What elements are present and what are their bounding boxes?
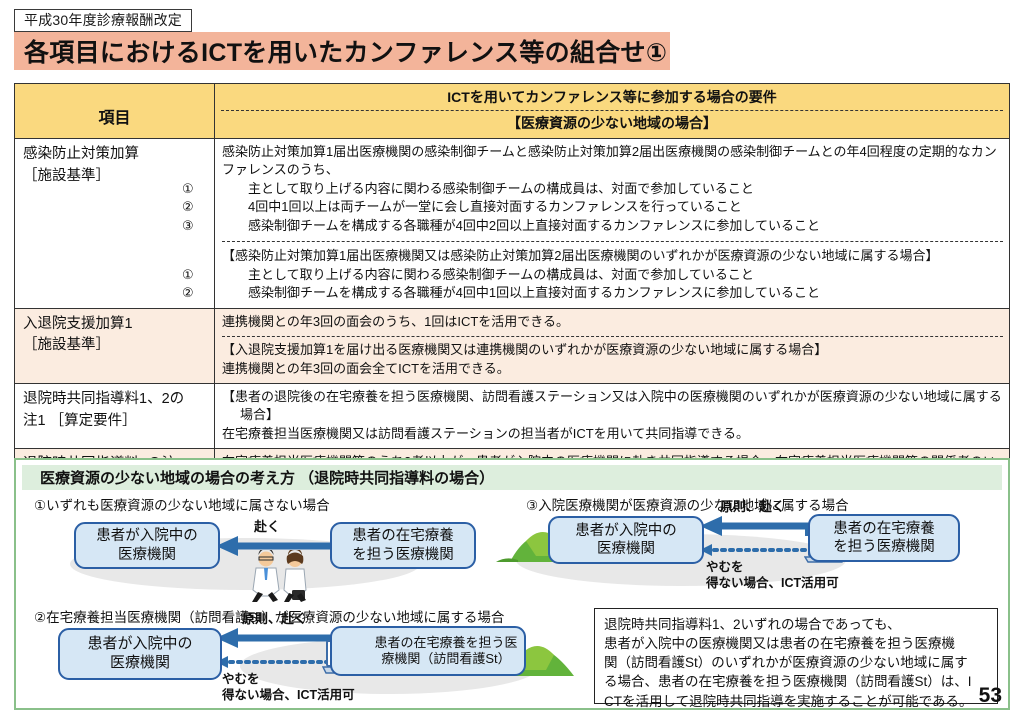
requirements-header-line2: 【医療資源の少ない地域の場合】 [221,113,1003,134]
ict-note-line2: 得ない場合、ICT活用可 [706,576,839,590]
node-inpatient-facility: 患者が入院中の 医療機関 [548,516,704,564]
ict-note-line1: やむを [706,560,744,574]
node-line1: 患者の在宅療養を担う医 [374,635,517,650]
body-lead-alt: 【入退院支援加算1を届け出る医療機関又は連携機関のいずれかが医療資源の少ない地域… [222,341,1003,359]
item-line2: 注1 ［算定要件］ [23,411,208,433]
arrow-ict-dotted [216,654,338,670]
row-body-admission-support: 連携機関との年3回の面会のうち、1回はICTを活用できる。 【入退院支援加算1を… [215,308,1010,383]
body-bullet: ②4回中1回以上は両チームが一堂に会し直接対面するカンファレンスを行っていること [222,198,1003,216]
slide-page: 平成30年度診療報酬改定 各項目におけるICTを用いたカンファレンス等の組合せ①… [0,0,1024,724]
row-dashed-divider [222,336,1003,337]
page-number: 53 [979,684,1002,708]
node-home-care-facility: 患者の在宅療養 を担う医療機関 [808,514,960,562]
table-row: 感染防止対策加算 ［施設基準］ 感染防止対策加算1届出医療機関の感染制御チームと… [15,139,1010,309]
body-lead: 連携機関との年3回の面会のうち、1回はICTを活用できる。 [222,313,1003,331]
item-line2: ［施設基準］ [23,335,208,357]
bullet-number: ② [222,284,248,302]
row-item-discharge-joint-guidance-1-2: 退院時共同指導料1、2の 注1 ［算定要件］ [15,383,215,448]
bullet-number: ② [222,198,248,216]
diagram-case2: ②在宅療養担当医療機関（訪問看護St）が医療資源の少ない地域に属する場合 患者が… [30,606,578,711]
body-bullet: ③感染制御チームを構成する各職種が4回中2回以上直接対面するカンファレンスに参加… [222,217,1003,235]
doctors-walking-icon [248,550,318,602]
bullet-number: ① [222,180,248,198]
node-line2: 医療機関 [597,541,655,557]
diagram-case1: ①いずれも医療資源の少ない地域に属さない場合 患者が入院中の 医療機関 患者の在… [30,494,500,599]
node-line2: 医療機関 [118,547,176,563]
node-inpatient-facility: 患者が入院中の 医療機関 [58,628,222,680]
node-line2: を担う医療機関 [352,547,454,563]
body-lead: 【患者の退院後の在宅療養を担う医療機関、訪問看護ステーション又は入院中の医療機関… [222,388,1003,425]
bullet-text: 主として取り上げる内容に関わる感染制御チームの構成員は、対面で参加していること [248,181,754,196]
body-bullet: ①主として取り上げる内容に関わる感染制御チームの構成員は、対面で参加していること [222,180,1003,198]
note-line2: 患者が入院中の医療機関又は患者の在宅療養を担う医療機 [604,634,989,653]
bullet-number: ① [222,266,248,284]
arrow-label-visit: 原則、赴く [242,608,307,627]
row-body-infection-prevention: 感染防止対策加算1届出医療機関の感染制御チームと感染防止対策加算2届出医療機関の… [215,139,1010,309]
diagram-case1-title: ①いずれも医療資源の少ない地域に属さない場合 [34,494,330,514]
table-header-row: 項目 ICTを用いてカンファレンス等に参加する場合の要件 【医療資源の少ない地域… [15,84,1010,139]
body-lead-alt: 【感染防止対策加算1届出医療機関又は感染防止対策加算2届出医療機関のいずれかが医… [222,247,1003,265]
bullet-text: 4回中1回以上は両チームが一堂に会し直接対面するカンファレンスを行っていること [248,199,742,214]
body-extra: 在宅療養担当医療機関又は訪問看護ステーションの担当者がICTを用いて共同指導でき… [222,425,1003,443]
column-header-requirements: ICTを用いてカンファレンス等に参加する場合の要件 【医療資源の少ない地域の場合… [215,84,1010,139]
ict-note-case3: やむを 得ない場合、ICT活用可 [706,560,839,591]
fiscal-year-tag: 平成30年度診療報酬改定 [14,9,192,32]
body-bullet: ①主として取り上げる内容に関わる感染制御チームの構成員は、対面で参加していること [222,266,1003,284]
diagram-case3: ③入院医療機関が医療資源の少ない地域に属する場合 患者が入院中の 医療機関 患者… [508,494,1006,609]
note-line4: る場合、患者の在宅療養を担う医療機関（訪問看護St）は、I [604,672,989,691]
ict-note-line2: 得ない場合、ICT活用可 [222,688,355,702]
requirements-table: 項目 ICTを用いてカンファレンス等に参加する場合の要件 【医療資源の少ない地域… [14,83,1010,505]
body-extra: 連携機関との年3回の面会全てICTを活用できる。 [222,360,1003,378]
header-dashed-divider [221,110,1003,111]
node-line1: 患者が入院中の [575,523,677,539]
body-lead: 感染防止対策加算1届出医療機関の感染制御チームと感染防止対策加算2届出医療機関の… [222,143,1003,180]
arrow-visit-solid [216,626,338,648]
bullet-text: 主として取り上げる内容に関わる感染制御チームの構成員は、対面で参加していること [248,267,754,282]
node-line2: を担う医療機関 [833,539,935,555]
arrow-visit-solid [700,514,816,536]
item-line1: 退院時共同指導料1、2の [23,389,208,411]
panel-heading: 医療資源の少ない地域の場合の考え方 （退院時共同指導料の場合） [22,465,1002,490]
arrow-label-visit: 赴く [254,516,280,535]
row-body-discharge-joint-guidance-1-2: 【患者の退院後の在宅療養を担う医療機関、訪問看護ステーション又は入院中の医療機関… [215,383,1010,448]
item-line1: 入退院支援加算1 [23,314,208,336]
item-line2: ［施設基準］ [23,166,208,188]
node-line1: 患者が入院中の [87,635,192,652]
ict-note-case2: やむを 得ない場合、ICT活用可 [222,672,355,703]
table-row: 入退院支援加算1 ［施設基準］ 連携機関との年3回の面会のうち、1回はICTを活… [15,308,1010,383]
node-inpatient-facility: 患者が入院中の 医療機関 [74,522,220,569]
table-row: 退院時共同指導料1、2の 注1 ［算定要件］ 【患者の退院後の在宅療養を担う医療… [15,383,1010,448]
summary-note-box: 退院時共同指導料1、2いずれの場合であっても、 患者が入院中の医療機関又は患者の… [594,608,998,704]
bullet-text: 感染制御チームを構成する各職種が4回中1回以上直接対面するカンファレンスに参加し… [248,285,820,300]
node-line2: 療機関（訪問看護St） [381,651,510,666]
row-item-admission-support: 入退院支援加算1 ［施設基準］ [15,308,215,383]
bullet-text: 感染制御チームを構成する各職種が4回中2回以上直接対面するカンファレンスに参加し… [248,218,820,233]
note-line1: 退院時共同指導料1、2いずれの場合であっても、 [604,615,989,634]
concept-panel: 医療資源の少ない地域の場合の考え方 （退院時共同指導料の場合） ①いずれも医療資… [14,458,1010,710]
note-line3: 関（訪問看護St）のいずれかが医療資源の少ない地域に属す [604,653,989,672]
arrow-ict-dotted [700,542,816,558]
page-title: 各項目におけるICTを用いたカンファレンス等の組合せ① [14,33,667,69]
node-line2: 医療機関 [110,654,170,671]
row-dashed-divider [222,241,1003,242]
slide-title-bar: 各項目におけるICTを用いたカンファレンス等の組合せ① [14,32,670,70]
node-home-care-visiting-nurse: 患者の在宅療養を担う医 療機関（訪問看護St） [330,626,526,676]
body-bullet: ②感染制御チームを構成する各職種が4回中1回以上直接対面するカンファレンスに参加… [222,284,1003,302]
ict-note-line1: やむを [222,672,260,686]
column-header-item: 項目 [15,84,215,139]
item-line1: 感染防止対策加算 [23,144,208,166]
requirements-header-line1: ICTを用いてカンファレンス等に参加する場合の要件 [221,87,1003,108]
arrow-label-visit: 原則、赴く [720,496,785,515]
note-line5: CTを活用して退院時共同指導を実施することが可能である。 [604,692,989,711]
node-line1: 患者が入院中の [96,528,198,544]
node-home-care-facility: 患者の在宅療養 を担う医療機関 [330,522,476,569]
node-line1: 患者の在宅療養 [352,528,454,544]
node-line1: 患者の在宅療養 [833,521,935,537]
bullet-number: ③ [222,217,248,235]
